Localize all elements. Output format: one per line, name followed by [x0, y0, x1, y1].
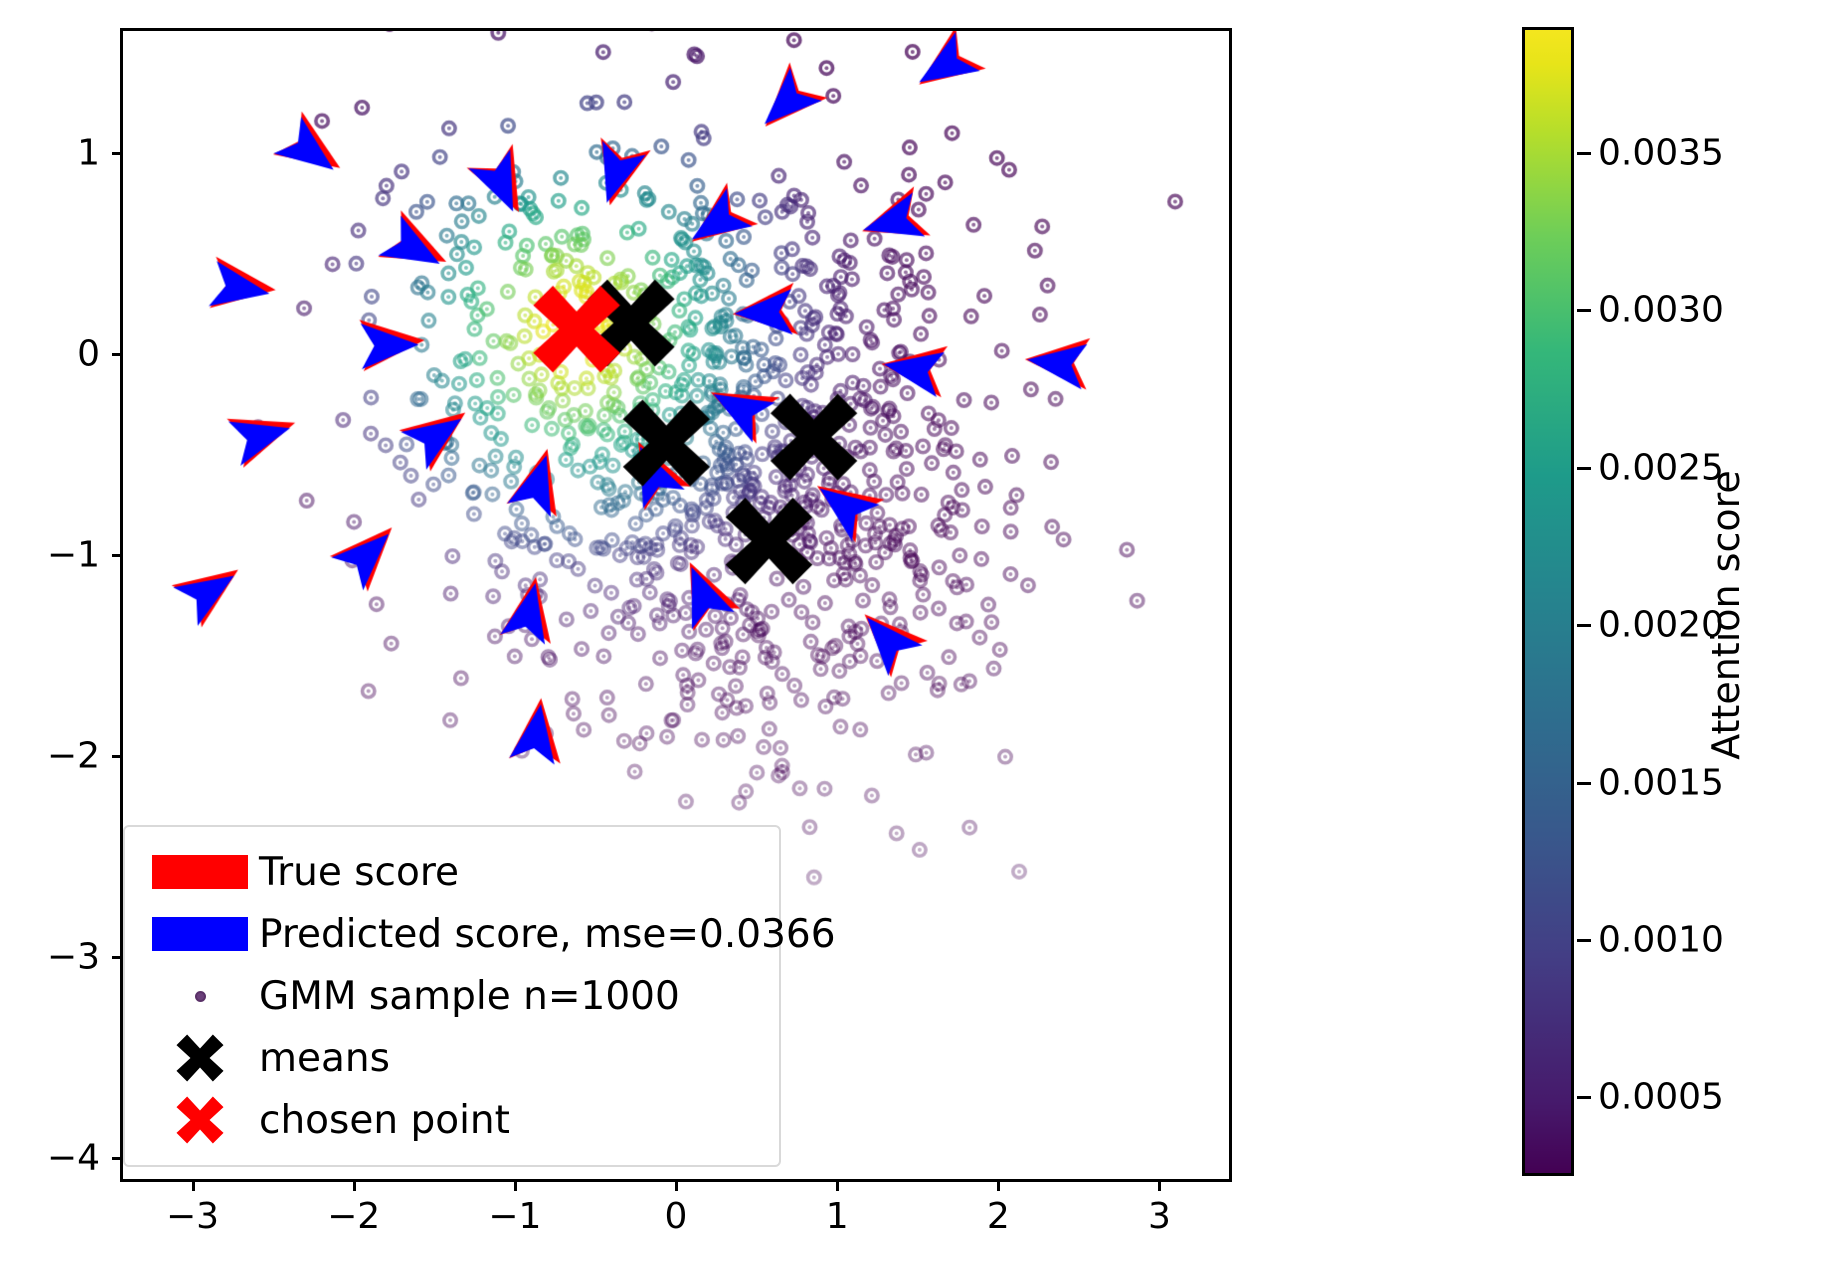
y-tickmark [112, 353, 121, 356]
legend-item-true-score[interactable]: True score [141, 841, 761, 903]
legend-label-gmm-sample: GMM sample n=1000 [259, 974, 680, 1019]
y-tickmark [112, 152, 121, 155]
red-x-marker-icon [141, 1092, 259, 1148]
x-tickmark [1158, 1182, 1161, 1191]
y-tick-label: −2 [8, 735, 100, 776]
x-tickmark [192, 1182, 195, 1191]
colorbar-tick-label: 0.0035 [1598, 132, 1724, 173]
y-tick-label: −1 [8, 534, 100, 575]
colorbar-tickmark [1577, 309, 1591, 312]
blue-swatch-icon [141, 917, 259, 951]
colorbar-tickmark [1577, 1096, 1591, 1099]
colorbar-tick-label: 0.0015 [1598, 762, 1724, 803]
x-tickmark [353, 1182, 356, 1191]
colorbar-tick-label: 0.0010 [1598, 919, 1724, 960]
x-tick-label: 0 [616, 1196, 736, 1237]
x-tick-label: 2 [938, 1196, 1058, 1237]
legend-label-predicted-score: Predicted score, mse=0.0366 [259, 912, 836, 957]
y-tickmark [112, 554, 121, 557]
legend: True score Predicted score, mse=0.0366 G… [123, 825, 781, 1167]
x-tick-label: −2 [294, 1196, 414, 1237]
y-tickmark [112, 956, 121, 959]
x-tickmark [675, 1182, 678, 1191]
colorbar-tickmark [1577, 939, 1591, 942]
y-tick-label: 0 [8, 333, 100, 374]
purple-dot-icon [141, 991, 259, 1002]
colorbar-tick-label: 0.0005 [1598, 1077, 1724, 1118]
x-tick-label: 1 [777, 1196, 897, 1237]
colorbar-tickmark [1577, 152, 1591, 155]
colorbar [1522, 27, 1574, 1176]
legend-item-chosen-point[interactable]: chosen point [141, 1089, 761, 1151]
y-tick-label: −3 [8, 936, 100, 977]
colorbar-tick-label: 0.0030 [1598, 290, 1724, 331]
legend-item-gmm-sample[interactable]: GMM sample n=1000 [141, 965, 761, 1027]
y-tickmark [112, 1157, 121, 1160]
y-tickmark [112, 755, 121, 758]
red-swatch-icon [141, 855, 259, 889]
x-tick-label: −1 [455, 1196, 575, 1237]
colorbar-tick-label: 0.0020 [1598, 605, 1724, 646]
x-tick-label: 3 [1099, 1196, 1219, 1237]
legend-item-means[interactable]: means [141, 1027, 761, 1089]
legend-label-means: means [259, 1036, 390, 1081]
legend-item-predicted-score[interactable]: Predicted score, mse=0.0366 [141, 903, 761, 965]
colorbar-tickmark [1577, 624, 1591, 627]
colorbar-tickmark [1577, 782, 1591, 785]
x-tick-label: −3 [133, 1196, 253, 1237]
x-tickmark [514, 1182, 517, 1191]
legend-label-chosen-point: chosen point [259, 1098, 510, 1143]
colorbar-tick-label: 0.0025 [1598, 447, 1724, 488]
colorbar-tickmark [1577, 467, 1591, 470]
figure-canvas: True score Predicted score, mse=0.0366 G… [0, 0, 1825, 1286]
x-tickmark [997, 1182, 1000, 1191]
y-tick-label: 1 [8, 132, 100, 173]
x-tickmark [836, 1182, 839, 1191]
legend-label-true-score: True score [259, 850, 459, 895]
black-x-marker-icon [141, 1030, 259, 1086]
y-tick-label: −4 [8, 1137, 100, 1178]
